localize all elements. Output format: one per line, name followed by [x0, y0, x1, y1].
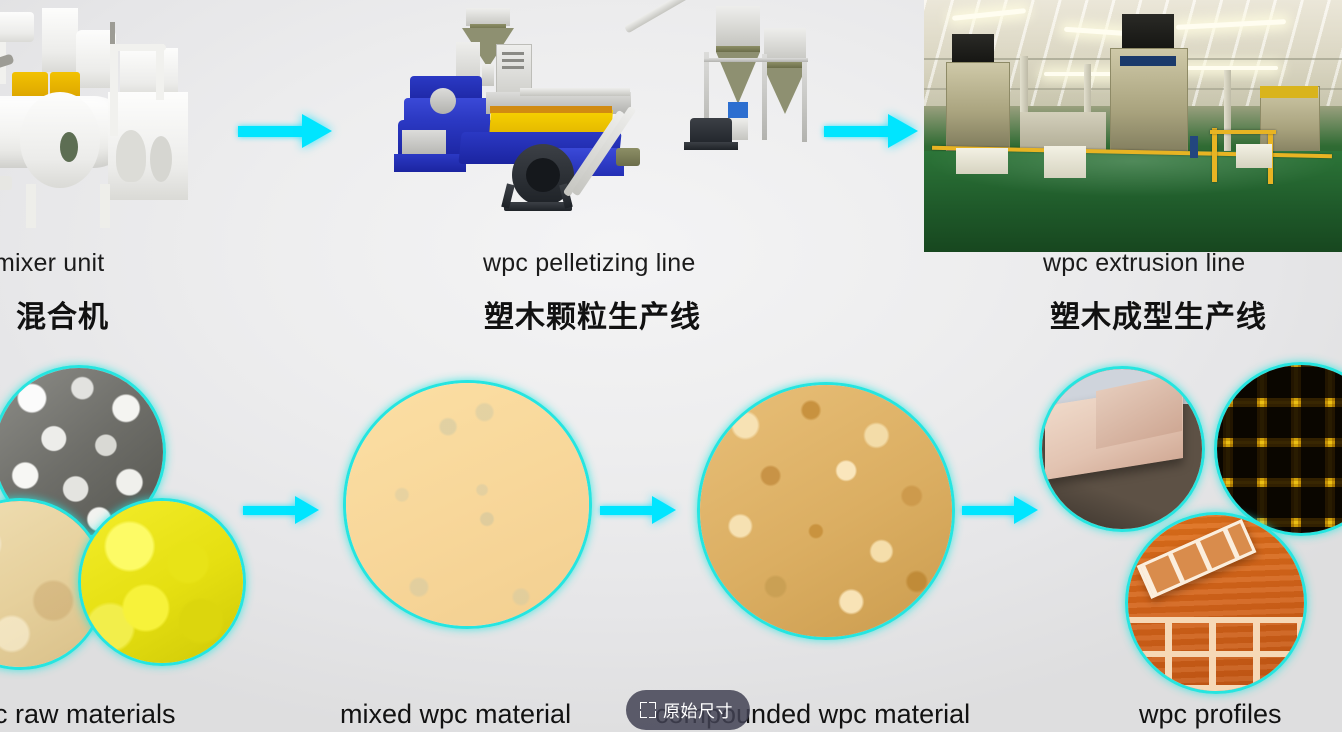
- mixer-top-box: [0, 12, 34, 42]
- safety-rail-top: [1210, 130, 1276, 134]
- wpc-production-flow-diagram: mixer unit 混合机 wpc pelletizing line 塑木颗粒…: [0, 0, 1342, 732]
- yellow-additive-texture: [81, 501, 243, 663]
- arrow-head: [652, 496, 676, 524]
- original-size-label: 原始尺寸: [663, 697, 733, 722]
- mixer-unit-machine-image: [0, 8, 230, 230]
- wpc-extrusion-line-factory-photo: [924, 0, 1342, 252]
- compounded-wpc-material-circle: [697, 382, 955, 640]
- cyclone-stand-rail: [704, 58, 808, 62]
- arrow-head: [1014, 496, 1038, 524]
- safety-rail-post-1: [1212, 128, 1217, 182]
- mixer-side-rail-2: [156, 44, 164, 100]
- orange-wpc-decking-circle: [1125, 512, 1307, 694]
- arrow-shaft: [962, 506, 1016, 515]
- arrow-head: [888, 114, 918, 148]
- mixer-side-rail: [110, 44, 118, 136]
- pelletizer-blower-base: [504, 202, 572, 211]
- mixer-gauge: [60, 132, 78, 162]
- mixer-valve-body: [0, 176, 12, 190]
- expand-corners-icon: [640, 702, 656, 718]
- pallet-stack-1: [956, 148, 1008, 174]
- stage-label-cn-pelletizing: 塑木颗粒生产线: [484, 292, 701, 336]
- arrow-shaft: [238, 126, 306, 137]
- mixer-leg-2: [26, 184, 36, 228]
- flow-arrow-bottom-3: [962, 496, 1042, 524]
- flow-arrow-bottom-1: [243, 496, 323, 524]
- cyclone-stand-leg-2: [762, 54, 767, 140]
- arrow-shaft: [243, 506, 297, 515]
- flow-arrow-top-2: [824, 114, 920, 148]
- pallet-stack-2: [1044, 146, 1086, 178]
- cyclone-stand-leg-3: [802, 60, 807, 142]
- material-label-profiles: wpc profiles: [1139, 699, 1282, 730]
- wpc-board-circle: [1039, 366, 1205, 532]
- arrow-head: [302, 114, 332, 148]
- pelletizer-panel-line-3: [502, 66, 524, 69]
- press-1-top: [952, 34, 994, 64]
- mixer-cabinet-top: [120, 48, 178, 98]
- yellow-wpc-profiles-texture: [1217, 365, 1342, 533]
- pelletizer-pipe-upper: [624, 0, 730, 33]
- pelletizer-base-blue: [394, 154, 466, 172]
- pelletizer-motor-base: [684, 142, 738, 150]
- factory-worker: [1190, 136, 1198, 158]
- stage-label-en-pelletizing: wpc pelletizing line: [483, 249, 695, 278]
- cyclone-1-valve: [728, 102, 748, 118]
- yellow-additive-circle: [78, 498, 246, 666]
- arrow-shaft: [600, 506, 654, 515]
- mixer-top-rail: [110, 44, 166, 51]
- pallet-stack-3: [1236, 144, 1272, 168]
- cyclone-2-body: [764, 28, 806, 62]
- cyclone-2-cone: [764, 68, 806, 114]
- mixer-leg-3: [100, 184, 110, 228]
- pelletizer-panel-line-1: [502, 52, 524, 55]
- pelletizer-hopper-outlet: [482, 64, 494, 86]
- press-2-top: [1122, 14, 1174, 50]
- compounded-wpc-material-texture: [700, 385, 952, 637]
- pelletizer-panel-line-2: [502, 59, 524, 62]
- mixer-cabinet-opening-right: [150, 136, 172, 182]
- pelletizer-coupling: [430, 88, 456, 114]
- cyclone-1-body: [716, 6, 760, 46]
- stage-label-en-extrusion: wpc extrusion line: [1043, 249, 1245, 278]
- pelletizer-heater-band-row: [490, 106, 612, 113]
- flow-arrow-bottom-2: [600, 496, 680, 524]
- decking-profile-sample: [1136, 520, 1256, 600]
- material-label-mixed: mixed wpc material: [340, 699, 571, 730]
- mixed-wpc-material-texture: [346, 383, 589, 626]
- decking-hollow-chambers: [1125, 617, 1307, 691]
- press-2-brand-plate: [1120, 56, 1176, 66]
- press-3-cap: [1260, 86, 1318, 98]
- stage-label-cn-mixer: 混合机: [16, 292, 109, 336]
- stage-label-en-mixer: mixer unit: [0, 249, 104, 278]
- flow-arrow-top-1: [238, 114, 334, 148]
- mixed-wpc-material-circle: [343, 380, 592, 629]
- mixer-cabinet-opening-left: [116, 130, 146, 182]
- wpc-board-texture: [1042, 369, 1202, 529]
- material-label-raw-materials: c raw materials: [0, 699, 176, 730]
- pelletizer-blower-hub: [526, 158, 560, 192]
- wpc-pelletizing-line-machine-image: [386, 2, 836, 230]
- pelletizer-barrel-top: [520, 88, 630, 96]
- stage-label-cn-extrusion: 塑木成型生产线: [1050, 292, 1267, 336]
- orange-wpc-decking-texture: [1128, 515, 1304, 691]
- mixer-hopper: [42, 8, 78, 72]
- yellow-wpc-profiles-circle: [1214, 362, 1342, 536]
- arrow-shaft: [824, 126, 892, 137]
- arrow-head: [295, 496, 319, 524]
- pelletizer-pipe-joint: [616, 148, 640, 166]
- original-size-button[interactable]: 原始尺寸: [626, 690, 750, 730]
